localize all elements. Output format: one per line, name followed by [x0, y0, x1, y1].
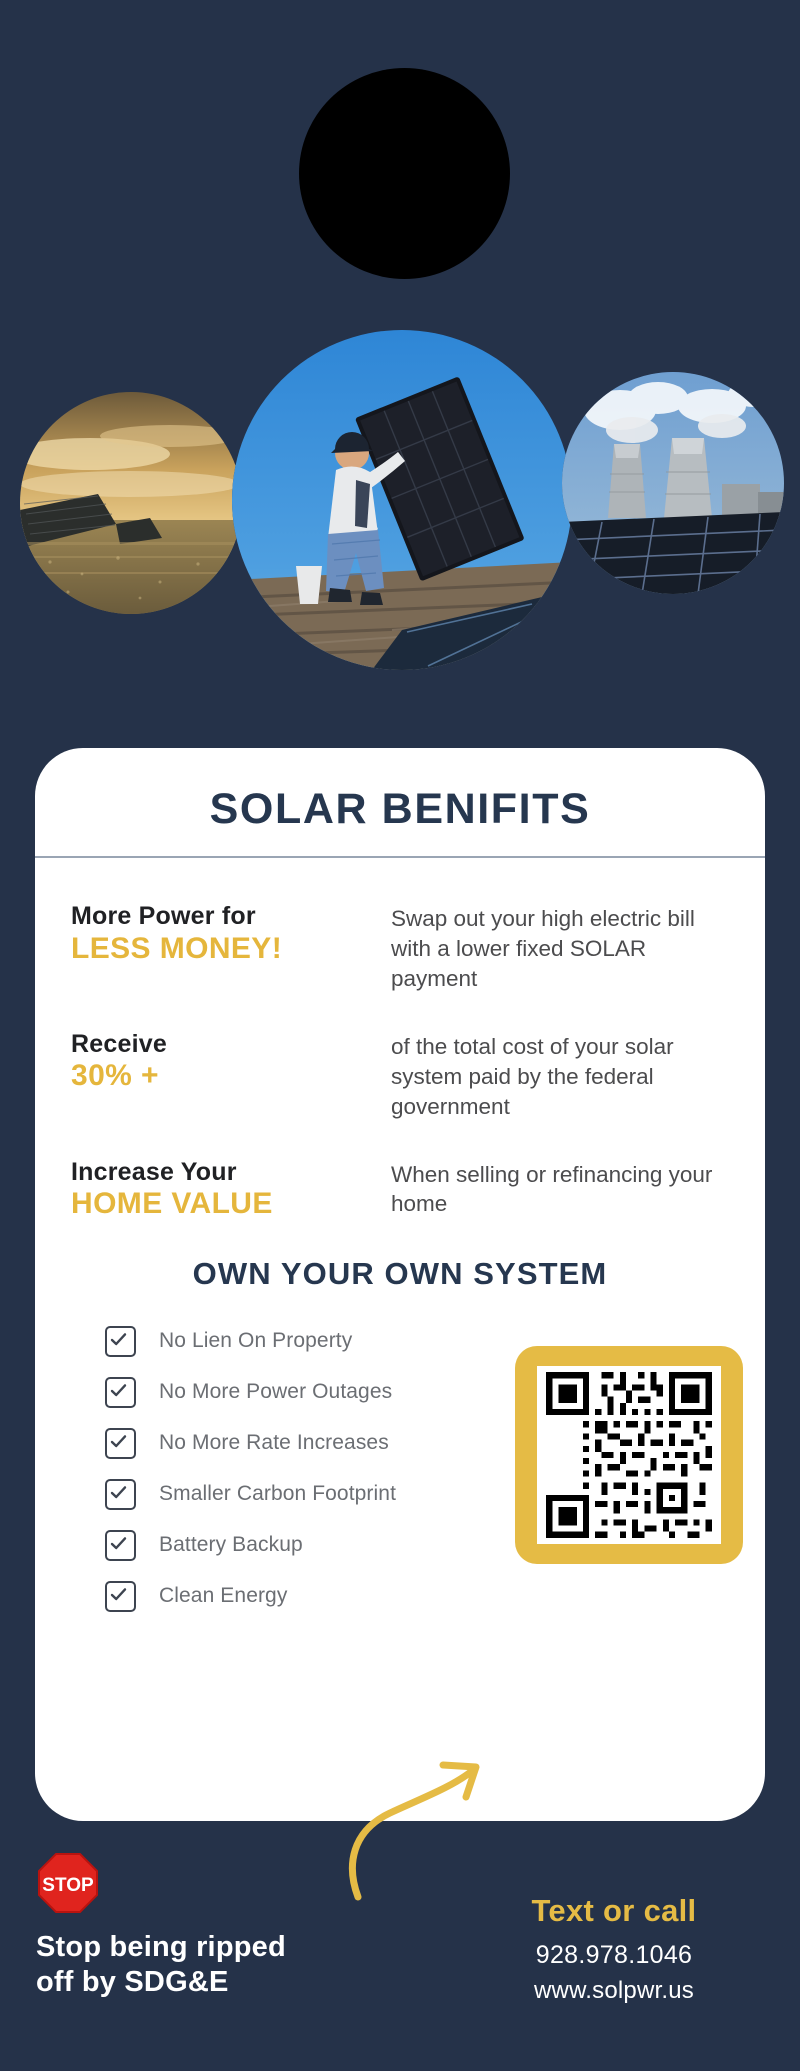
door-hanger-hole — [299, 68, 510, 279]
photo-installer-panel — [232, 330, 572, 670]
footer-warning-line-1: Stop being ripped — [36, 1930, 386, 1965]
checkbox-checked-icon[interactable] — [105, 1479, 136, 1510]
benefits-card: SOLAR BENIFITS More Power for LESS MONEY… — [35, 748, 765, 1821]
list-item: No Lien On Property — [63, 1326, 483, 1357]
photo-solar-farm-sunset — [20, 392, 242, 614]
page-title: SOLAR BENIFITS — [35, 748, 765, 834]
benefit-label: Receive 30% + — [71, 1028, 391, 1122]
checkbox-checked-icon[interactable] — [105, 1530, 136, 1561]
benefit-row: Receive 30% + of the total cost of your … — [71, 1028, 729, 1122]
contact-call-label: Text or call — [464, 1893, 764, 1929]
benefit-description: of the total cost of your solar system p… — [391, 1028, 729, 1122]
list-item-label: No More Rate Increases — [159, 1431, 389, 1455]
benefit-label: Increase Your HOME VALUE — [71, 1156, 391, 1222]
benefit-row: Increase Your HOME VALUE When selling or… — [71, 1156, 729, 1222]
photo-power-plant — [562, 372, 784, 594]
benefit-label-top: Increase Your — [71, 1158, 391, 1188]
list-item: No More Rate Increases — [63, 1428, 483, 1459]
list-item-label: Battery Backup — [159, 1533, 303, 1557]
list-item-label: No More Power Outages — [159, 1380, 392, 1404]
benefit-description: Swap out your high electric bill with a … — [391, 900, 729, 994]
door-hanger-flyer: SOLAR BENIFITS More Power for LESS MONEY… — [0, 0, 800, 2071]
list-item: Clean Energy — [63, 1581, 483, 1612]
list-item-label: Smaller Carbon Footprint — [159, 1482, 396, 1506]
footer-contact: Text or call 928.978.1046 www.solpwr.us — [464, 1893, 764, 2005]
checkbox-checked-icon[interactable] — [105, 1377, 136, 1408]
benefit-label-highlight: 30% + — [71, 1059, 391, 1094]
footer-warning-line-2: off by SDG&E — [36, 1965, 386, 2000]
checkbox-checked-icon[interactable] — [105, 1428, 136, 1459]
footer-warning: STOP Stop being ripped off by SDG&E — [36, 1851, 386, 2001]
photo-strip — [0, 330, 800, 660]
qr-code-frame[interactable] — [515, 1346, 743, 1564]
benefit-label-top: Receive — [71, 1030, 391, 1060]
benefit-label: More Power for LESS MONEY! — [71, 900, 391, 994]
benefits-checklist: No Lien On Property No More Power Outage… — [63, 1326, 483, 1612]
list-item-label: Clean Energy — [159, 1584, 287, 1608]
benefit-label-top: More Power for — [71, 902, 391, 932]
contact-website[interactable]: www.solpwr.us — [464, 1977, 764, 2005]
benefit-description: When selling or refinancing your home — [391, 1156, 729, 1222]
stop-sign-icon: STOP — [36, 1851, 386, 1920]
checkbox-checked-icon[interactable] — [105, 1581, 136, 1612]
list-item: Battery Backup — [63, 1530, 483, 1561]
benefit-label-highlight: HOME VALUE — [71, 1187, 391, 1222]
checkbox-checked-icon[interactable] — [105, 1326, 136, 1357]
svg-text:STOP: STOP — [42, 1875, 94, 1896]
own-system-heading: OWN YOUR OWN SYSTEM — [35, 1256, 765, 1292]
qr-code[interactable] — [537, 1366, 721, 1544]
list-item: No More Power Outages — [63, 1377, 483, 1408]
footer: STOP Stop being ripped off by SDG&E Text… — [0, 1835, 800, 2071]
benefit-row: More Power for LESS MONEY! Swap out your… — [71, 900, 729, 994]
benefits-list: More Power for LESS MONEY! Swap out your… — [35, 858, 765, 1222]
checklist-and-qr: No Lien On Property No More Power Outage… — [35, 1326, 765, 1626]
footer-warning-text: Stop being ripped off by SDG&E — [36, 1930, 386, 2001]
contact-phone[interactable]: 928.978.1046 — [464, 1941, 764, 1970]
benefit-label-highlight: LESS MONEY! — [71, 932, 391, 967]
list-item: Smaller Carbon Footprint — [63, 1479, 483, 1510]
list-item-label: No Lien On Property — [159, 1329, 352, 1353]
